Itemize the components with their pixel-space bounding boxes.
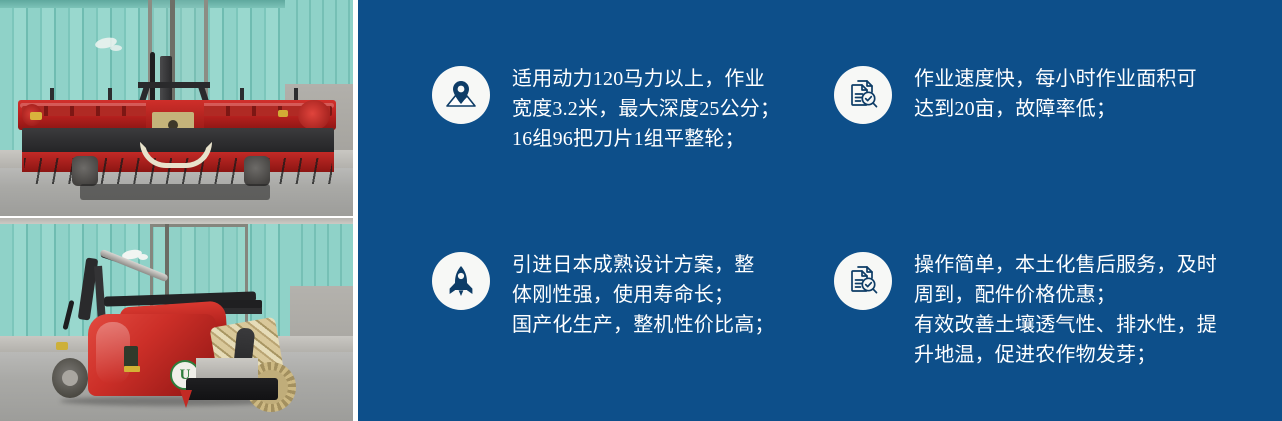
feature-highlights-panel: 适用动力120马力以上，作业 宽度3.2米，最大深度25公分； 16组96把刀片… [358, 0, 1282, 421]
document-search-check-icon [834, 252, 892, 310]
grease-fitting [56, 342, 68, 350]
document-search-check-icon [834, 66, 892, 124]
wall-right-section [290, 224, 353, 286]
gauge-wheel-hub [62, 370, 78, 386]
depth-wheel-right [244, 156, 270, 186]
depth-wheel-left [72, 156, 98, 186]
rocket-icon [432, 252, 490, 310]
feature-item-2[interactable]: 作业速度快，每小时作业面积可 达到20亩，故障率低； [834, 62, 1264, 124]
left-grease-cap [30, 112, 42, 120]
product-photo-front-view[interactable] [0, 0, 353, 216]
wall-paint-mark-small [110, 45, 122, 51]
feature-item-4[interactable]: 操作简单，本土化售后服务，及时 周到，配件价格优惠； 有效改善土壤透气性、排水性… [834, 248, 1264, 370]
location-pin-map-icon [432, 66, 490, 124]
feature-text-2: 作业速度快，每小时作业面积可 达到20亩，故障率低； [914, 62, 1197, 124]
feature-text-4: 操作简单，本土化售后服务，及时 周到，配件价格优惠； 有效改善土壤透气性、排水性… [914, 248, 1217, 370]
feature-text-3: 引进日本成熟设计方案，整 体刚性强，使用寿命长； 国产化生产，整机性价比高； [512, 248, 775, 340]
feature-grid: 适用动力120马力以上，作业 宽度3.2米，最大深度25公分； 16组96把刀片… [358, 0, 1282, 421]
product-photo-side-view[interactable]: U [0, 218, 353, 421]
wall-paint-mark-small [138, 254, 148, 260]
feature-item-3[interactable]: 引进日本成熟设计方案，整 体刚性强，使用寿命长； 国产化生产，整机性价比高； [432, 248, 822, 340]
lower-skid-frame [186, 378, 278, 400]
right-grease-cap [278, 110, 288, 117]
product-feature-banner: U 适用动力12 [0, 0, 1282, 421]
product-image-gallery: U [0, 0, 353, 421]
feature-item-1[interactable]: 适用动力120马力以上，作业 宽度3.2米，最大深度25公分； 16组96把刀片… [432, 62, 822, 154]
feature-text-1: 适用动力120马力以上，作业 宽度3.2米，最大深度25公分； 16组96把刀片… [512, 62, 780, 154]
machine-shadow [80, 184, 270, 200]
wall-right-section [285, 0, 353, 84]
side-panel-latch [124, 366, 140, 372]
right-end-cap [298, 100, 330, 130]
